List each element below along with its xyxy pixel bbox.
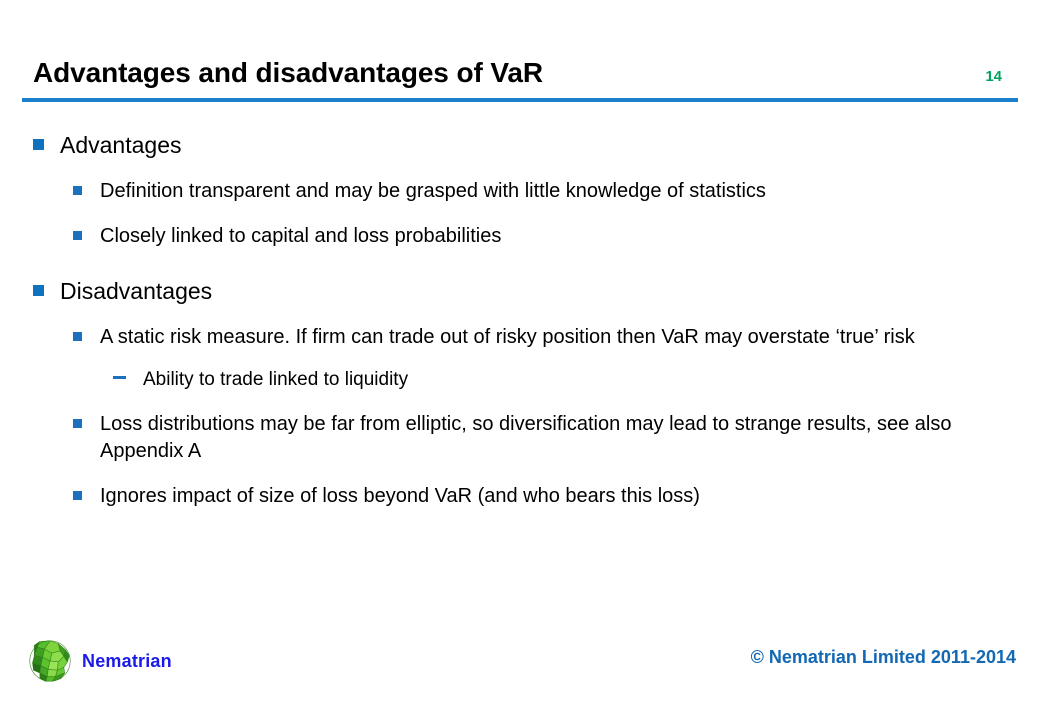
bullet-text: Ability to trade linked to liquidity: [143, 367, 408, 393]
bullet-item-static-risk-measure: A static risk measure. If firm can trade…: [73, 324, 995, 351]
brand-name: Nematrian: [82, 651, 172, 671]
slide-header: Advantages and disadvantages of VaR 14: [0, 0, 1040, 104]
bullet-item-loss-distributions: Loss distributions may be far from ellip…: [73, 411, 995, 465]
bullet-text: A static risk measure. If firm can trade…: [100, 324, 915, 351]
polyhedron-sphere-logo-icon: [27, 638, 73, 684]
square-bullet-icon: [73, 483, 100, 500]
bullet-item-advantages: Advantages: [33, 130, 1000, 160]
page-number: 14: [985, 68, 1002, 86]
brand-lockup: Nematrian: [27, 638, 172, 684]
dash-bullet-icon: [113, 367, 143, 379]
bullet-item-ignores-impact: Ignores impact of size of loss beyond Va…: [73, 483, 995, 510]
square-bullet-icon: [73, 411, 100, 428]
bullet-item-definition-transparent: Definition transparent and may be graspe…: [73, 178, 995, 205]
copyright-notice: © Nematrian Limited 2011-2014: [751, 646, 1016, 668]
bullet-text: Advantages: [60, 130, 181, 160]
bullet-item-disadvantages: Disadvantages: [33, 276, 1000, 306]
title-divider: [22, 98, 1018, 102]
square-bullet-icon: [73, 223, 100, 240]
bullet-text: Disadvantages: [60, 276, 212, 306]
square-bullet-icon: [33, 130, 60, 150]
bullet-text: Closely linked to capital and loss proba…: [100, 223, 501, 250]
square-bullet-icon: [33, 276, 60, 296]
slide: Advantages and disadvantages of VaR 14 A…: [0, 0, 1040, 720]
page-title: Advantages and disadvantages of VaR: [33, 56, 543, 90]
slide-body: Advantages Definition transparent and ma…: [0, 104, 1040, 620]
square-bullet-icon: [73, 178, 100, 195]
square-bullet-icon: [73, 324, 100, 341]
bullet-text: Definition transparent and may be graspe…: [100, 178, 766, 205]
bullet-item-ability-to-trade: Ability to trade linked to liquidity: [113, 367, 995, 393]
bullet-text: Loss distributions may be far from ellip…: [100, 411, 995, 465]
bullet-text: Ignores impact of size of loss beyond Va…: [100, 483, 700, 510]
slide-footer: Nematrian © Nematrian Limited 2011-2014: [0, 620, 1040, 720]
bullet-item-closely-linked: Closely linked to capital and loss proba…: [73, 223, 995, 250]
